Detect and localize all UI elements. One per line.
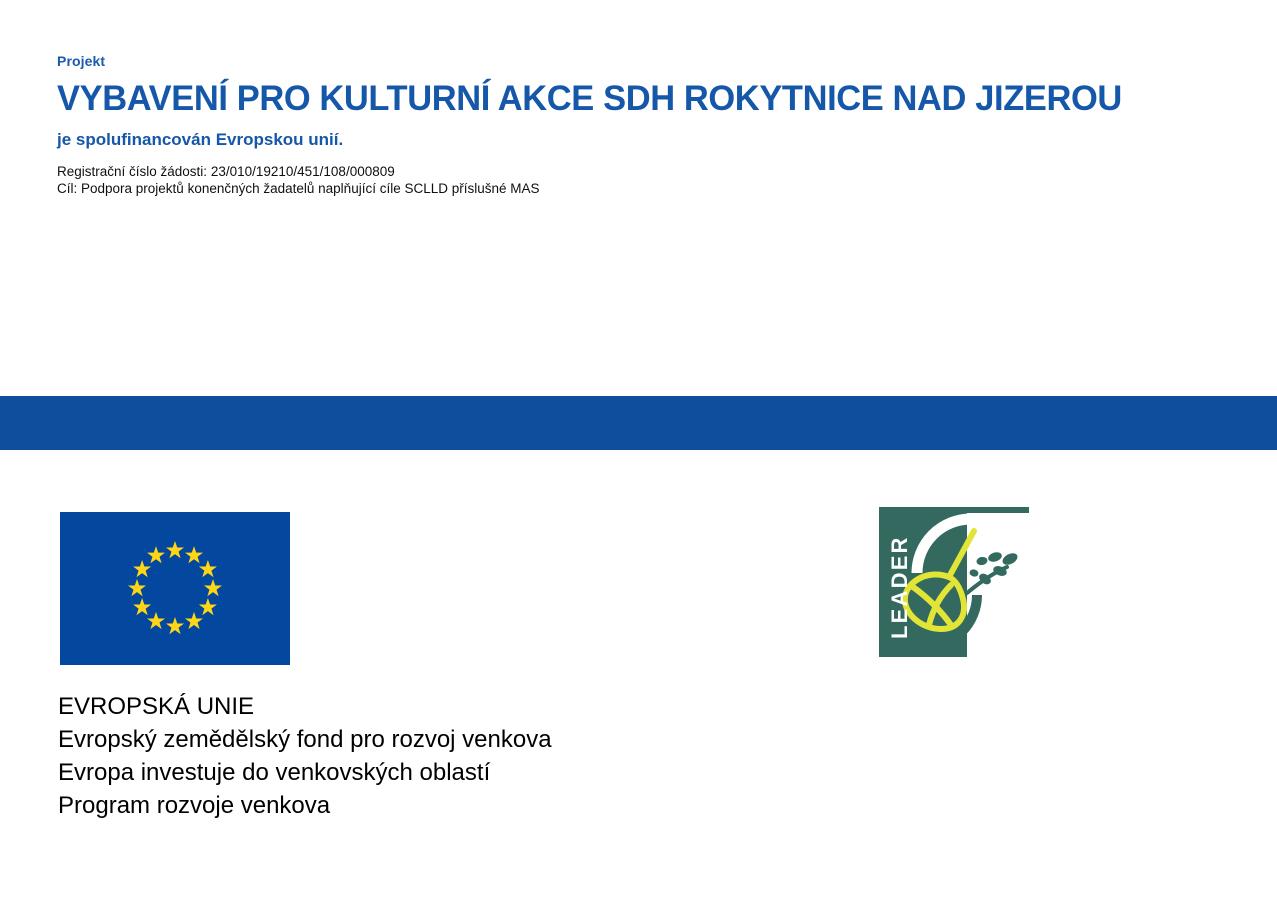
project-header: Projekt VYBAVENÍ PRO KULTURNÍ AKCE SDH R…	[57, 52, 1237, 197]
caption-line-4: Program rozvoje venkova	[58, 789, 758, 822]
project-goal: Cíl: Podpora projektů konenčných žadatel…	[57, 180, 1237, 197]
cofinanced-statement: je spolufinancován Evropskou unií.	[57, 129, 1237, 151]
registration-number: Registrační číslo žádosti: 23/010/19210/…	[57, 163, 1237, 180]
eyebrow-label: Projekt	[57, 52, 1237, 70]
project-meta: Registrační číslo žádosti: 23/010/19210/…	[57, 163, 1237, 197]
leader-wordmark: LEADER	[887, 535, 912, 639]
eu-flag-icon	[60, 512, 290, 665]
caption-line-3: Evropa investuje do venkovských oblastí	[58, 756, 758, 789]
caption-line-1: EVROPSKÁ UNIE	[58, 690, 758, 723]
caption-line-2: Evropský zemědělský fond pro rozvoj venk…	[58, 723, 758, 756]
eu-funding-caption: EVROPSKÁ UNIE Evropský zemědělský fond p…	[58, 690, 758, 822]
leader-logo-icon: LEADER	[879, 507, 1038, 663]
page-title: VYBAVENÍ PRO KULTURNÍ AKCE SDH ROKYTNICE…	[57, 78, 1219, 120]
blue-divider-band	[0, 396, 1277, 450]
